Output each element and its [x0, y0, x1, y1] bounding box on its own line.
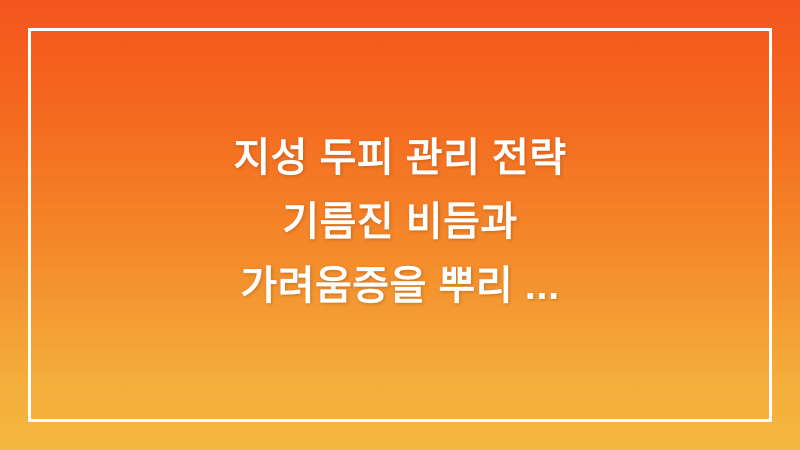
title-block: 지성 두피 관리 전략 기름진 비듬과 가려움증을 뿌리 ... — [0, 133, 800, 311]
title-line-3: 가려움증을 뿌리 ... — [240, 261, 559, 311]
title-line-2: 기름진 비듬과 — [282, 197, 517, 247]
title-line-1: 지성 두피 관리 전략 — [233, 133, 566, 183]
thumbnail-card: 지성 두피 관리 전략 기름진 비듬과 가려움증을 뿌리 ... — [0, 0, 800, 450]
